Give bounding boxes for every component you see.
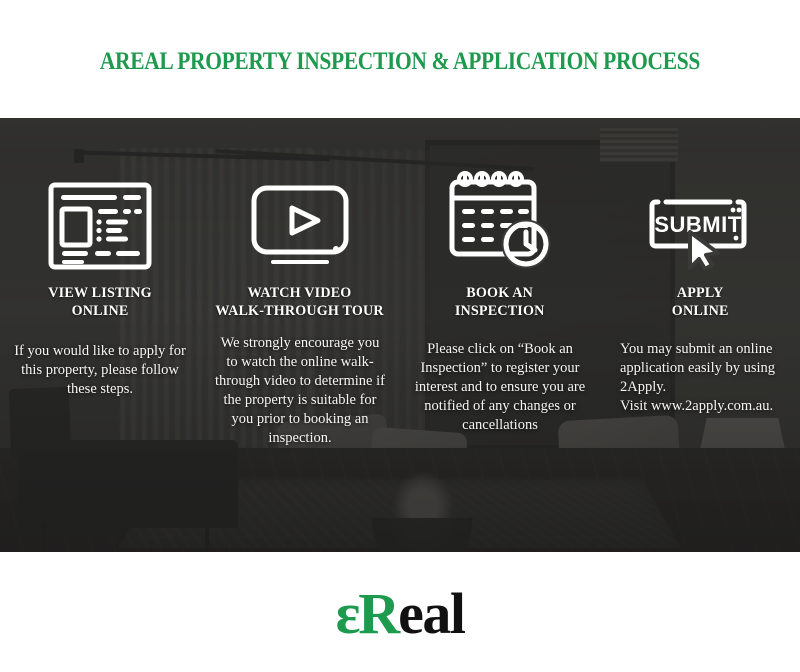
step-title-line-2: ONLINE (48, 302, 151, 320)
step-title-line-2: ONLINE (672, 302, 729, 320)
step-book-inspection: BOOK AN INSPECTION Please click on “Book… (400, 118, 600, 552)
footer: ɛReal (0, 552, 800, 672)
hero-photo-band: VIEW LISTING ONLINE If you would like to… (0, 118, 800, 552)
submit-icon-label: SUBMIT (654, 212, 741, 237)
browser-listing-icon (48, 154, 152, 270)
step-description: We strongly encourage you to watch the o… (214, 334, 386, 448)
poster: AREAL PROPERTY INSPECTION & APPLICATION … (0, 0, 800, 672)
step-title: BOOK AN INSPECTION (455, 284, 545, 320)
step-view-listing: VIEW LISTING ONLINE If you would like to… (0, 118, 200, 552)
video-play-icon (248, 154, 352, 270)
step-title-line-2: INSPECTION (455, 302, 545, 320)
step-title: APPLY ONLINE (672, 284, 729, 320)
steps-row: VIEW LISTING ONLINE If you would like to… (0, 118, 800, 552)
step-apply-online: SUBMIT APPLY ONLINE You may submit an on… (600, 118, 800, 552)
page-title: AREAL PROPERTY INSPECTION & APPLICATION … (100, 48, 700, 76)
step-title: WATCH VIDEO WALK-THROUGH TOUR (216, 284, 384, 320)
step-description: You may submit an online application eas… (620, 340, 780, 416)
areal-logo: ɛReal (335, 585, 464, 643)
step-description: If you would like to apply for this prop… (14, 342, 186, 399)
step-title-line-2: WALK-THROUGH TOUR (216, 302, 384, 320)
header: AREAL PROPERTY INSPECTION & APPLICATION … (0, 0, 800, 118)
step-description: Please click on “Book an Inspection” to … (414, 340, 586, 435)
step-watch-video: WATCH VIDEO WALK-THROUGH TOUR We strongl… (200, 118, 400, 552)
calendar-clock-icon (446, 154, 554, 270)
step-title-line-1: BOOK AN (455, 284, 545, 302)
step-title: VIEW LISTING ONLINE (48, 284, 151, 320)
step-title-line-1: WATCH VIDEO (216, 284, 384, 302)
step-title-line-1: APPLY (672, 284, 729, 302)
logo-mark: ɛR (335, 585, 398, 643)
submit-button-cursor-icon: SUBMIT (644, 154, 756, 270)
logo-wordmark: eal (398, 585, 464, 643)
step-title-line-1: VIEW LISTING (48, 284, 151, 302)
